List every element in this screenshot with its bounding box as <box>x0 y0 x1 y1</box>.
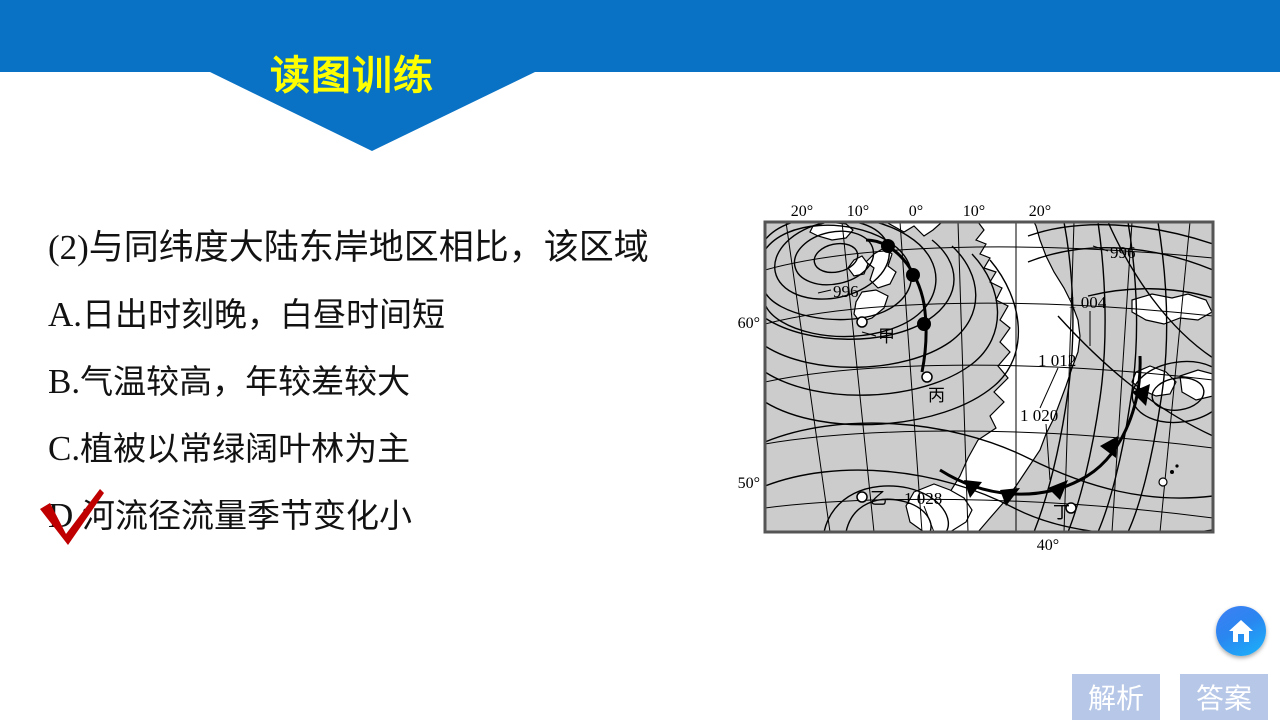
header-banner <box>0 0 1280 152</box>
option-a-letter: A. <box>48 295 82 334</box>
page-title: 读图训练 <box>270 52 434 100</box>
lat-label-60n: 60° <box>738 315 760 332</box>
option-a[interactable]: A.日出时刻晚，白昼时间短 <box>48 281 728 348</box>
option-d-text: 河流径流量季节变化小 <box>82 496 412 535</box>
lat-label-40n: 40° <box>1037 537 1059 554</box>
option-d[interactable]: D.河流径流量季节变化小 <box>48 482 728 549</box>
option-c-letter: C. <box>48 429 80 468</box>
lon-label-0: 0° <box>909 203 923 220</box>
lat-label-50n: 50° <box>738 475 760 492</box>
question-stem-text: (2)与同纬度大陆东岸地区相比，该区域 <box>48 228 649 267</box>
analysis-button[interactable]: 解析 <box>1072 674 1160 720</box>
isobar-label-1004: 1 004 <box>1068 293 1107 312</box>
station-label-jia: 甲 <box>878 327 895 347</box>
isobar-label-996-ne: 996 <box>1110 243 1136 262</box>
isobar-label-1020: 1 020 <box>1020 406 1058 425</box>
isobar-label-996-nw: 996 <box>833 282 859 301</box>
option-b-text: 气温较高，年较差较大 <box>80 362 410 401</box>
answer-button[interactable]: 答案 <box>1180 674 1268 720</box>
option-c-text: 植被以常绿阔叶林为主 <box>80 429 410 468</box>
option-c[interactable]: C.植被以常绿阔叶林为主 <box>48 415 728 482</box>
option-b[interactable]: B.气温较高，年较差较大 <box>48 348 728 415</box>
question-block: (2)与同纬度大陆东岸地区相比，该区域 A.日出时刻晚，白昼时间短 B.气温较高… <box>48 214 728 549</box>
weather-map-figure: 996 996 1 004 1 012 1 020 1 028 <box>728 196 1228 556</box>
home-button[interactable] <box>1216 606 1266 656</box>
banner-chevron-shape <box>0 0 1280 151</box>
lon-label-20w: 20° <box>791 203 813 220</box>
lon-label-10e: 10° <box>963 203 985 220</box>
isobar-label-1012: 1 012 <box>1038 351 1076 370</box>
isobar-label-1028: 1 028 <box>904 489 942 508</box>
option-a-text: 日出时刻晚，白昼时间短 <box>82 295 445 334</box>
station-label-ding: 丁 <box>1053 503 1070 523</box>
question-stem: (2)与同纬度大陆东岸地区相比，该区域 <box>48 214 728 281</box>
home-icon <box>1228 619 1254 643</box>
option-b-letter: B. <box>48 362 80 401</box>
lon-label-20e: 20° <box>1029 203 1051 220</box>
correct-answer-checkmark <box>38 487 108 549</box>
lon-label-10w: 10° <box>847 203 869 220</box>
station-label-bing: 丙 <box>928 386 945 406</box>
bottom-button-bar: 解析 答案 <box>1072 674 1268 720</box>
station-label-yi: 乙 <box>870 489 887 509</box>
